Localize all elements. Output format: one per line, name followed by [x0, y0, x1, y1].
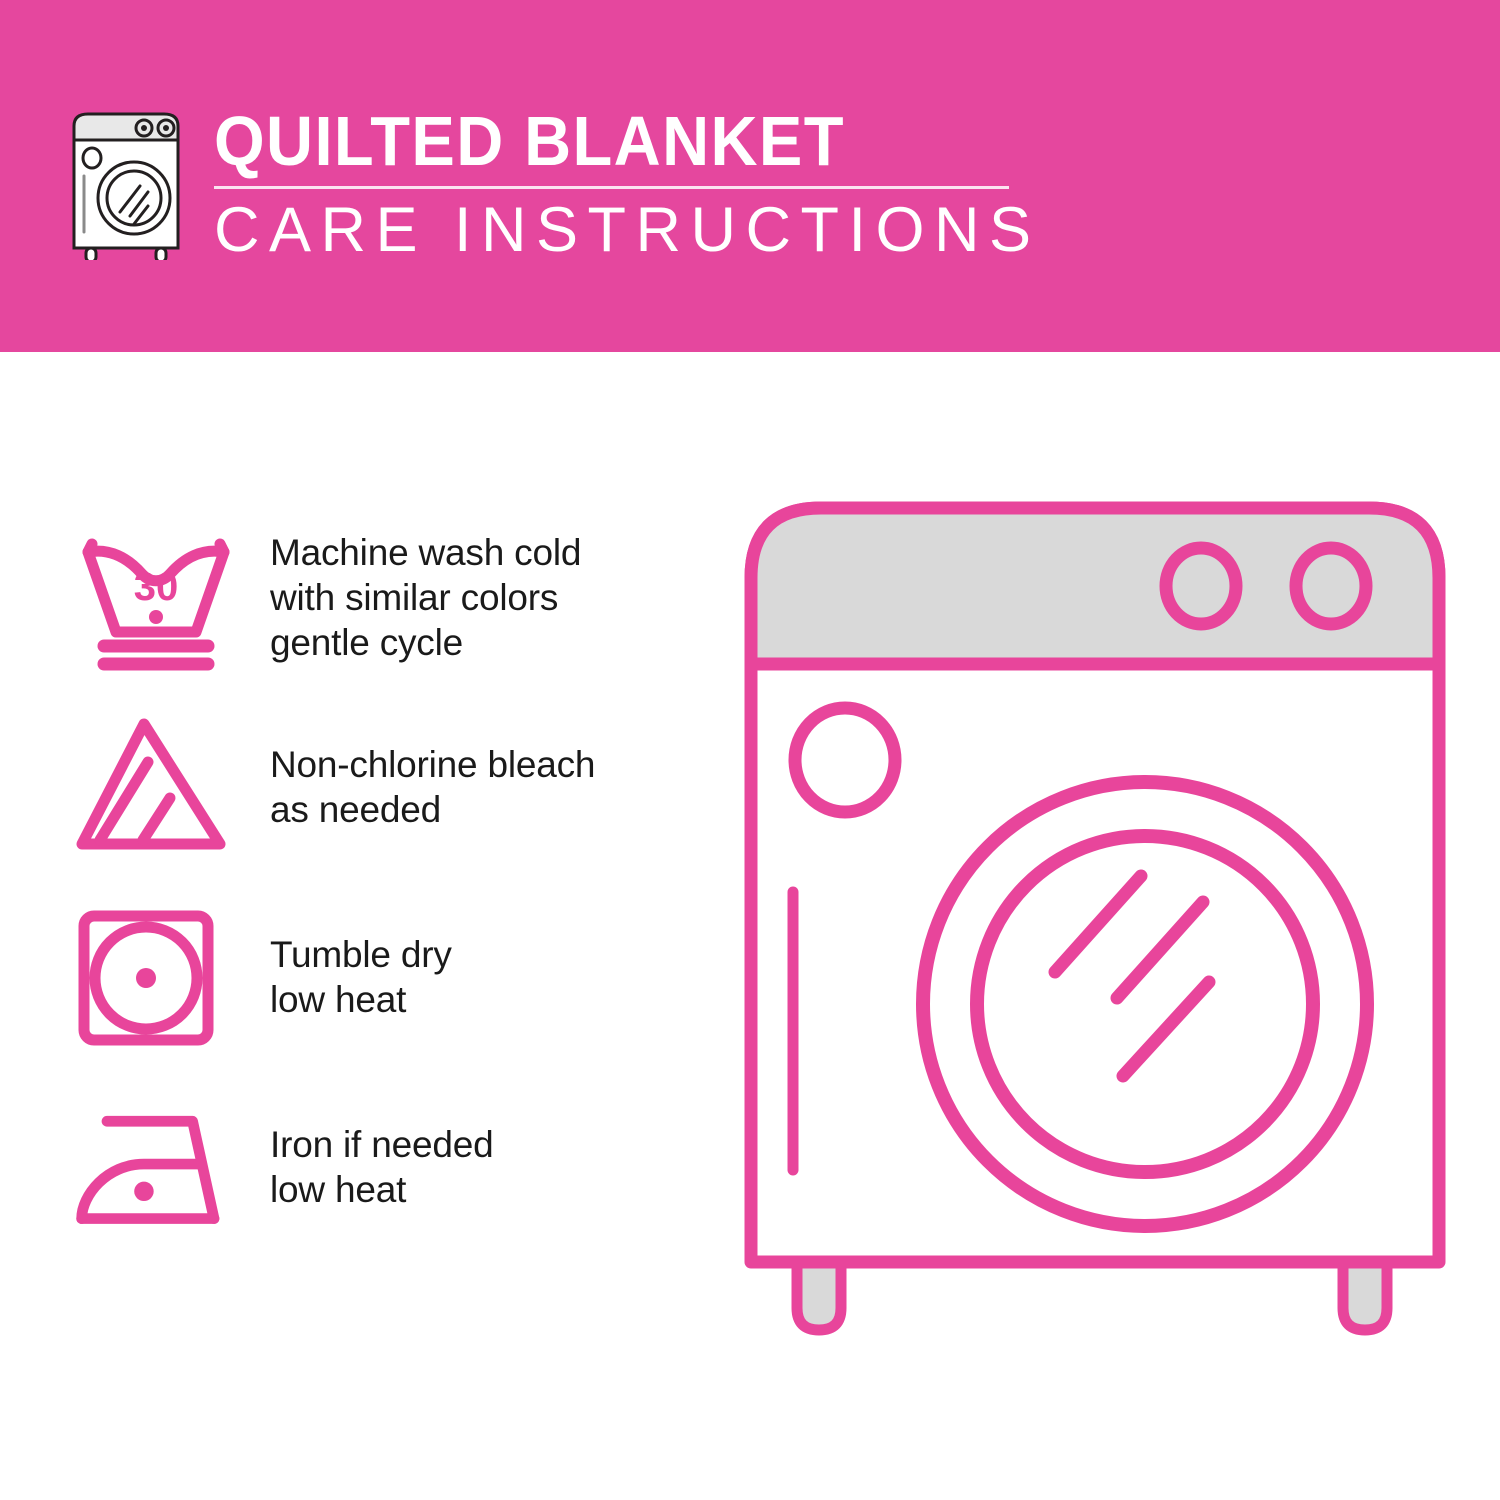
care-label-tumble-dry: Tumble dry low heat [250, 932, 452, 1022]
care-symbol-slot [70, 712, 250, 862]
care-symbol-slot [70, 1092, 250, 1242]
washing-machine-graphic [735, 492, 1455, 1392]
tumble-dry-icon [70, 902, 245, 1052]
page-title: QUILTED BLANKET [214, 104, 983, 178]
care-label-iron: Iron if needed low heat [250, 1122, 493, 1212]
care-item-wash: 30 Machine wash cold with similar colors… [70, 502, 710, 692]
care-item-iron: Iron if needed low heat [70, 1072, 710, 1262]
page-subtitle: CARE INSTRUCTIONS [214, 195, 1041, 265]
bleach-triangle-icon [70, 712, 245, 862]
care-item-bleach: Non-chlorine bleach as needed [70, 692, 710, 882]
washer-knob-left [1166, 548, 1236, 624]
washing-machine-illustration [735, 492, 1455, 1392]
header-content: QUILTED BLANKET CARE INSTRUCTIONS [62, 100, 1041, 265]
header-title-block: QUILTED BLANKET CARE INSTRUCTIONS [214, 100, 1041, 265]
care-symbol-slot [70, 902, 250, 1052]
title-divider [214, 186, 1009, 189]
care-instruction-list: 30 Machine wash cold with similar colors… [70, 502, 710, 1262]
washing-machine-icon [62, 100, 192, 260]
care-symbol-slot: 30 [70, 522, 250, 672]
iron-icon [70, 1092, 250, 1242]
main-content: 30 Machine wash cold with similar colors… [0, 352, 1500, 1500]
header-banner: QUILTED BLANKET CARE INSTRUCTIONS [0, 0, 1500, 352]
care-label-wash: Machine wash cold with similar colors ge… [250, 530, 581, 665]
care-label-bleach: Non-chlorine bleach as needed [250, 742, 595, 832]
wash-tub-icon: 30 [70, 522, 245, 672]
care-item-tumble-dry: Tumble dry low heat [70, 882, 710, 1072]
wash-temperature-label: 30 [134, 565, 179, 609]
washer-knob-right [1296, 548, 1366, 624]
